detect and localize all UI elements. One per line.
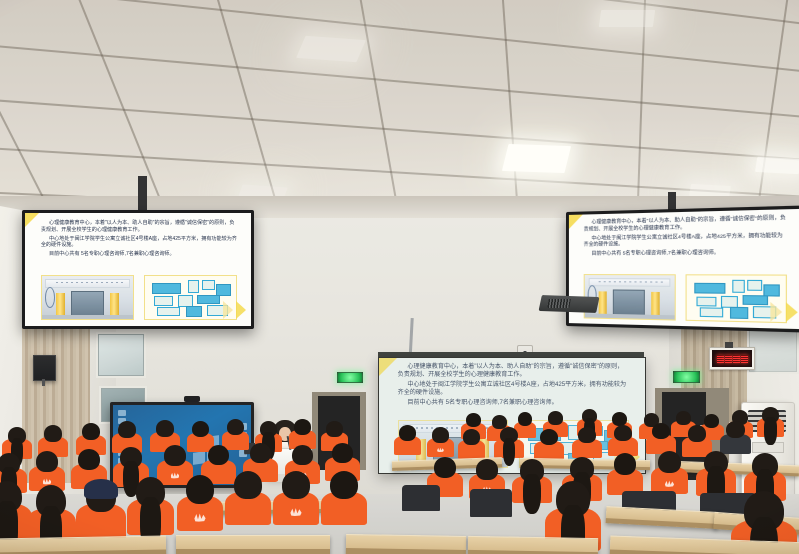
slide-paragraph-2: 中心地处于闽江学院学生公寓立诚社区4号楼A座，占地425平方米，拥有功能较为齐全… [41,236,238,250]
student [520,459,544,503]
entrance-floor [42,315,134,319]
student [186,475,214,531]
ceiling-panel-light [599,10,655,27]
slide-content: 心理健康教育中心，本着"以人为本、助人自助"的宗旨，遵循"诚信保密"的原则，负责… [569,209,799,329]
student [726,421,745,454]
slide-corner-accent [25,213,39,227]
slide-paragraph-3: 目前中心共有 5名专职心理咨询师,7名兼职心理咨询师。 [41,251,238,258]
speaker-bracket [42,379,45,386]
student [578,427,596,458]
left-display-screen: 心理健康教育中心，本着"以人为本、助人自助"的宗旨，遵循"诚信保密"的原则，负责… [25,213,251,326]
student [704,414,719,440]
slide-paragraph-2: 中心地处于闽江学院学生公寓立诚社区4号楼A座，占地425平方米，拥有功能较为齐全… [398,381,629,397]
student [658,451,681,494]
led-char [741,355,748,363]
student [0,481,22,541]
lecture-hall-photo: 心理健康教育中心，本着"以人为本、助人自助"的宗旨，遵循"诚信保密"的原则，负责… [0,0,799,554]
slide-paragraph-1: 心理健康教育中心，本着"以人为本、助人自助"的宗旨，遵循"诚信保密"的原则，负责… [41,220,238,234]
student [614,453,636,495]
ceiling-panel-light [502,144,571,173]
student [227,419,244,450]
student [500,427,518,458]
exit-sign [673,371,700,383]
led-char [725,355,732,363]
entrance-floor [585,313,676,320]
exit-sign [337,372,363,383]
right-display-screen: 心理健康教育中心，本着"以人为本、助人自助"的宗旨，遵循"诚信保密"的原则，负责… [569,209,799,329]
slide-figures [41,275,238,320]
student [164,445,186,485]
student [330,471,358,525]
student [762,407,779,437]
led-information-sign [709,347,755,370]
led-sign-display [712,350,752,367]
student [282,471,310,525]
slide-paragraph-1: 心理健康教育中心，本着"以人为本、助人自助"的宗旨，遵循"诚信保密"的原则，负责… [398,363,629,379]
entrance-signboard [45,279,129,288]
desk [176,535,330,554]
center-entrance-photo [41,275,134,320]
student [192,421,209,452]
whiteboard-tool-icon[interactable] [118,410,126,416]
student [234,471,262,525]
ceiling-panel-light [296,36,366,62]
audience [0,419,799,554]
student [136,477,165,535]
slide-content: 心理健康教育中心，本着"以人为本、助人自助"的宗旨，遵循"诚信保密"的原则，负责… [25,213,251,326]
entrance-door [71,291,104,317]
school-emblem [45,287,55,308]
student [652,423,670,454]
projector-vent [547,299,571,308]
whiteboard-camera [184,396,200,402]
window [96,332,146,378]
led-sign-bracket [725,342,733,348]
student [463,429,480,459]
seat-back [402,485,440,511]
slide-corner-accent [379,358,397,376]
desk [0,535,166,554]
led-char [733,355,740,363]
slide-corner-accent [569,215,583,229]
student [614,425,632,456]
slide-chevron-accent [785,302,797,322]
student [540,429,558,460]
desk [468,536,598,554]
entrance-door [613,290,645,316]
student [399,425,416,455]
student [518,412,532,438]
left-display-tv: 心理健康教育中心，本着"以人为本、助人自助"的宗旨，遵循"诚信保密"的原则，负责… [22,210,254,329]
wall-speaker [33,355,56,381]
slide-chevron-accent [770,301,782,321]
slide-chevron-accent [236,301,246,319]
entrance-pillar [651,292,659,316]
seat-back [470,489,512,517]
exit-sign-glyph [674,372,699,382]
student [432,427,449,457]
slide-text-block: 心理健康教育中心，本着"以人为本、助人自助"的宗旨，遵循"诚信保密"的原则，负责… [584,216,787,260]
desk [346,534,466,554]
slide-paragraph-3: 目前中心共有 5名专职心理咨询师,7名兼职心理咨询师。 [398,399,629,407]
slide-paragraph-3: 目前中心共有 5名专职心理咨询师,7名兼职心理咨询师。 [584,250,787,258]
led-char [717,355,724,363]
student [704,451,728,496]
entrance-signboard [588,278,671,287]
slide-figures [584,274,787,322]
slide-paragraph-2: 中心地处于闽江学院学生公寓立诚社区4号楼A座，占地425平方米，拥有功能较为齐全… [584,233,787,249]
student [86,481,116,541]
tv-ceiling-mount [138,176,147,212]
right-display-tv: 心理健康教育中心，本着"以人为本、助人自助"的宗旨，遵循"诚信保密"的原则，负责… [566,205,799,332]
slide-paragraph-1: 心理健康教育中心，本着"以人为本、助人自助"的宗旨，遵循"诚信保密"的原则，负责… [584,216,787,234]
slide-text-block: 心理健康教育中心，本着"以人为本、助人自助"的宗旨，遵循"诚信保密"的原则，负责… [41,220,238,260]
entrance-pillar [599,291,607,315]
entrance-pillar [110,293,118,317]
entrance-pillar [56,293,64,317]
exit-sign-glyph [338,373,362,382]
ceiling-panel-light [755,157,799,174]
slide-text-block: 心理健康教育中心，本着"以人为本、助人自助"的宗旨，遵循"诚信保密"的原则，负责… [398,363,629,410]
slide-chevron-accent [223,301,233,319]
